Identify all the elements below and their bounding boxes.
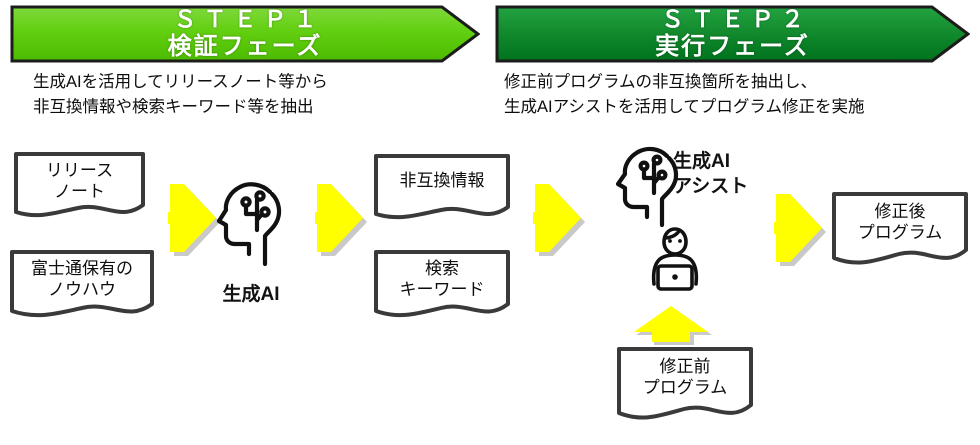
doc-after-program-label: 修正後 プログラム xyxy=(830,201,970,244)
step2-banner: ＳＴＥＰ２ 実行フェーズ xyxy=(495,5,970,63)
arrow-outputs-to-assist xyxy=(531,182,587,260)
doc-incompatibility-info-label: 非互換情報 xyxy=(372,170,512,191)
up-arrow-icon xyxy=(628,303,714,347)
doc-before-program: 修正前 プログラム xyxy=(615,345,755,423)
step2-description: 修正前プログラムの非互換箇所を抽出し、 生成AIアシストを活用してプログラム修正… xyxy=(504,70,864,120)
doc-fujitsu-knowhow: 富士通保有の ノウハウ xyxy=(8,248,156,320)
person-laptop-icon xyxy=(640,222,710,298)
doc-search-keyword: 検索 キーワード xyxy=(372,248,512,320)
generative-ai-icon xyxy=(213,178,289,270)
generative-ai-label: 生成AI xyxy=(203,283,299,307)
doc-after-program: 修正後 プログラム xyxy=(830,190,970,268)
step2-title: ＳＴＥＰ２ xyxy=(654,7,811,33)
arrow-assist-to-after xyxy=(772,192,828,270)
arrow-ai-to-outputs xyxy=(313,182,369,260)
right-arrow-icon xyxy=(313,182,369,260)
doc-release-note-label: リリース ノート xyxy=(12,160,147,203)
right-arrow-icon xyxy=(531,182,587,260)
person-laptop-icon xyxy=(640,222,710,298)
step1-subtitle: 検証フェーズ xyxy=(168,34,323,61)
doc-before-program-label: 修正前 プログラム xyxy=(615,356,755,399)
doc-incompatibility-info: 非互換情報 xyxy=(372,152,512,222)
right-arrow-icon xyxy=(772,192,828,270)
doc-fujitsu-knowhow-label: 富士通保有の ノウハウ xyxy=(8,258,156,301)
step1-title: ＳＴＥＰ１ xyxy=(167,7,324,33)
doc-release-note: リリース ノート xyxy=(12,150,147,220)
step1-banner: ＳＴＥＰ１ 検証フェーズ xyxy=(10,5,480,63)
step2-subtitle: 実行フェーズ xyxy=(655,34,810,61)
step1-description: 生成AIを活用してリリースノート等から 非互換情報や検索キーワード等を抽出 xyxy=(33,70,328,120)
diagram-canvas: ＳＴＥＰ１ 検証フェーズ 生成AIを活用してリリースノート等から 非互換情報や検… xyxy=(0,0,980,445)
ai-head-icon xyxy=(213,178,289,270)
doc-search-keyword-label: 検索 キーワード xyxy=(372,258,512,301)
arrow-before-to-assist xyxy=(628,303,714,347)
